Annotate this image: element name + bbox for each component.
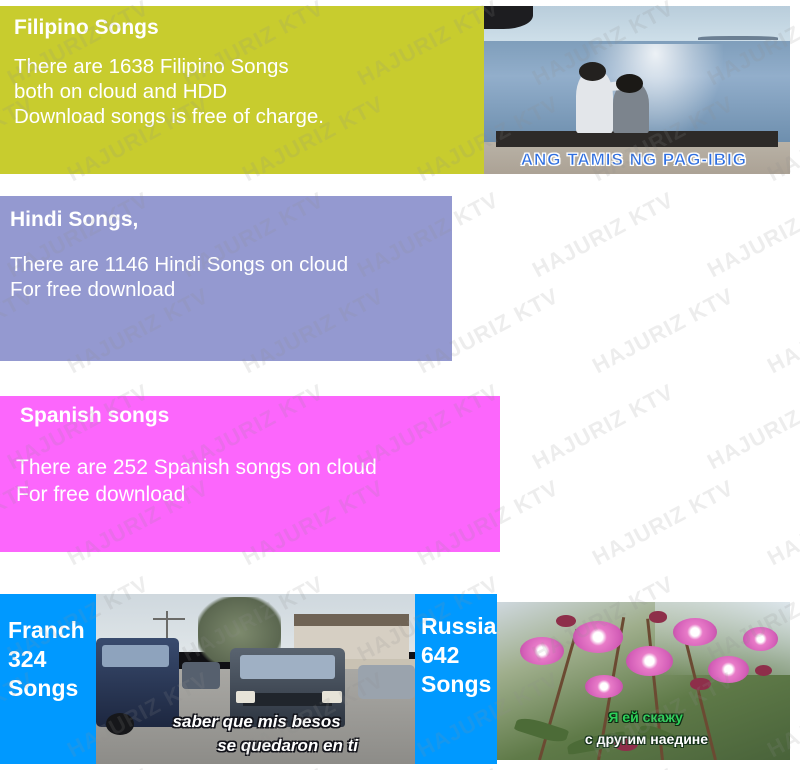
filipino-text-block: Filipino Songs There are 1638 Filipino S…: [0, 6, 484, 174]
panel-hindi-songs: Hindi Songs, There are 1146 Hindi Songs …: [0, 196, 790, 361]
panel-french-songs: Franch 324 Songs saber que mis besos se …: [0, 594, 415, 764]
panel-spanish-songs: Spanish songs There are 252 Spanish song…: [0, 396, 790, 552]
russia-subtitle-line-1: Я ей скажу: [608, 709, 683, 725]
russia-label: Russia 642 Songs: [415, 594, 497, 764]
panel-filipino-songs: Filipino Songs There are 1638 Filipino S…: [0, 6, 790, 174]
hindi-text-block: Hindi Songs, There are 1146 Hindi Songs …: [0, 196, 452, 361]
spanish-title: Spanish songs: [20, 404, 500, 428]
spanish-description: There are 252 Spanish songs on cloud For…: [16, 454, 500, 508]
filipino-subtitle-line-1: ANG TAMIS NG PAG-IBIG: [521, 150, 747, 170]
french-video-thumbnail[interactable]: saber que mis besos se quedaron en ti: [96, 594, 415, 764]
french-subtitle-line-2: se quedaron en ti: [217, 736, 358, 756]
spanish-text-block: Spanish songs There are 252 Spanish song…: [0, 396, 500, 552]
hindi-description: There are 1146 Hindi Songs on cloud For …: [10, 252, 452, 302]
filipino-description: There are 1638 Filipino Songs both on cl…: [14, 54, 484, 129]
hindi-title: Hindi Songs,: [10, 208, 452, 232]
filipino-video-thumbnail[interactable]: ANG TAMIS NG PAG-IBIG: [484, 6, 790, 174]
panel-russia-songs: Russia 642 Songs Я ей скажу с д: [415, 594, 790, 764]
french-label: Franch 324 Songs: [0, 594, 96, 764]
french-subtitle-line-1: saber que mis besos: [173, 712, 341, 732]
russia-video-thumbnail[interactable]: Я ей скажу с другим наедине: [497, 602, 790, 760]
russia-subtitle-line-2: с другим наедине: [585, 731, 708, 747]
filipino-title: Filipino Songs: [14, 16, 484, 40]
